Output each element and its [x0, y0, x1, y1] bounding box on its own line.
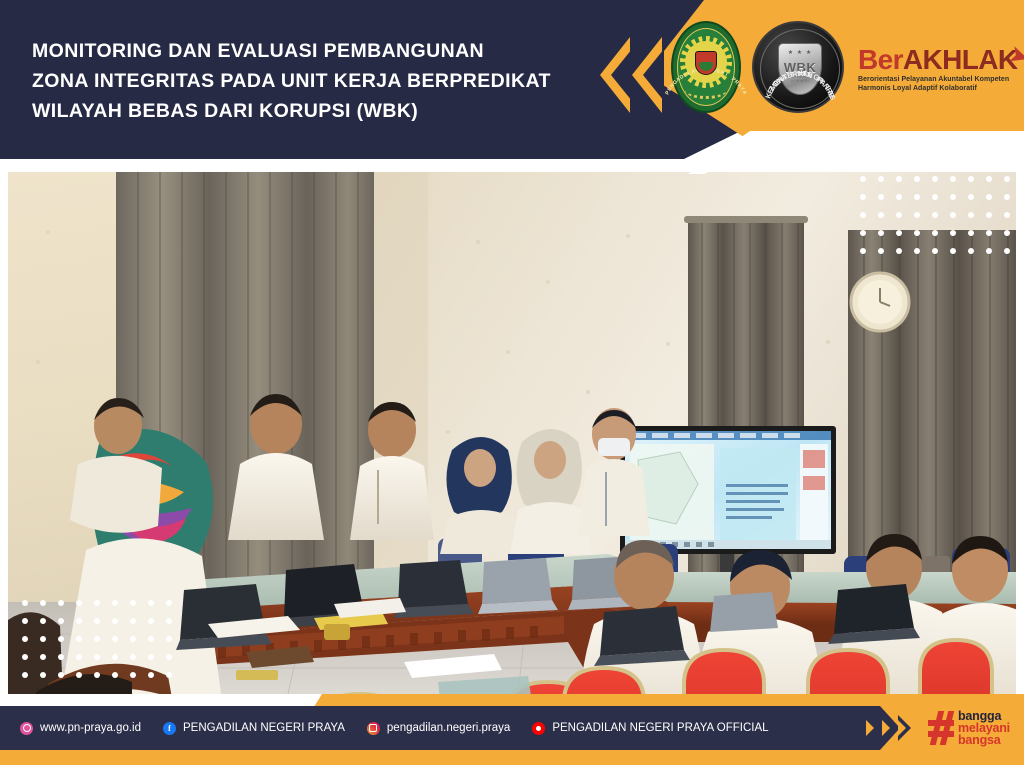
dot [166, 618, 172, 624]
dot [148, 672, 154, 678]
dot [112, 618, 118, 624]
dot [148, 654, 154, 660]
youtube-icon[interactable] [532, 722, 545, 735]
dot [40, 672, 46, 678]
dot [40, 618, 46, 624]
footer-link-label: www.pn-praya.go.id [40, 722, 141, 734]
medal-arc-bottom-text: ZONA INTEGRITAS [754, 23, 846, 115]
dot [896, 176, 902, 182]
dot [932, 248, 938, 254]
dot [166, 600, 172, 606]
dot [986, 212, 992, 218]
bangga-melayani-bangsa-logo: bangga melayani bangsa [928, 710, 1010, 746]
bangga-line-3: bangsa [958, 734, 1010, 746]
chevron-right-icon-2 [882, 715, 895, 741]
dot [148, 618, 154, 624]
dot [40, 654, 46, 660]
dot [76, 600, 82, 606]
footer-social-links: www.pn-praya.go.idfPENGADILAN NEGERI PRA… [0, 706, 880, 750]
dot [22, 636, 28, 642]
dot [22, 618, 28, 624]
dot [58, 672, 64, 678]
poster-header: MONITORING DAN EVALUASI PEMBANGUNAN ZONA… [0, 0, 1024, 170]
dot [112, 672, 118, 678]
dot [1004, 176, 1010, 182]
dot [914, 248, 920, 254]
arc-char: A [740, 90, 747, 96]
dot [968, 248, 974, 254]
dot [130, 654, 136, 660]
arc-char: I [789, 70, 794, 79]
title-line-2: ZONA INTEGRITAS PADA UNIT KERJA BERPREDI… [32, 66, 592, 96]
dot [58, 654, 64, 660]
dot [878, 176, 884, 182]
dot [112, 636, 118, 642]
dot [1004, 212, 1010, 218]
dot [1004, 194, 1010, 200]
hashtag-icon [928, 711, 954, 745]
chevron-right-icon-3 [898, 715, 911, 741]
dot [130, 636, 136, 642]
footer-link-3[interactable]: PENGADILAN NEGERI PRAYA OFFICIAL [532, 722, 768, 735]
footer-link-1[interactable]: fPENGADILAN NEGERI PRAYA [163, 722, 345, 735]
dot [130, 618, 136, 624]
berakhlak-word-ber: Ber [858, 44, 903, 75]
dot [932, 230, 938, 236]
chevron-left-icon-1 [600, 37, 630, 113]
berakhlak-word-akhlak: AKHLAK [903, 44, 1018, 75]
dot [878, 248, 884, 254]
dot [968, 230, 974, 236]
dot [878, 212, 884, 218]
page-title: MONITORING DAN EVALUASI PEMBANGUNAN ZONA… [32, 36, 592, 126]
footer-link-2[interactable]: pengadilan.negeri.praya [367, 722, 510, 735]
dot [22, 672, 28, 678]
chevron-left-icon-2 [632, 37, 662, 113]
dot [166, 654, 172, 660]
dot-row [854, 172, 1016, 188]
dot [94, 600, 100, 606]
dot [76, 636, 82, 642]
dot [896, 248, 902, 254]
dot [896, 194, 902, 200]
facebook-icon[interactable]: f [163, 722, 176, 735]
dot-row [16, 594, 178, 612]
dot [40, 636, 46, 642]
dot [950, 248, 956, 254]
dot [914, 230, 920, 236]
dot [986, 248, 992, 254]
seal-crest [695, 51, 717, 75]
dot [950, 194, 956, 200]
footer-link-label: PENGADILAN NEGERI PRAYA OFFICIAL [552, 722, 768, 734]
dot [860, 176, 866, 182]
dot [950, 176, 956, 182]
bangga-text: bangga melayani bangsa [958, 710, 1010, 746]
dot [94, 618, 100, 624]
dot [166, 672, 172, 678]
footer-link-label: pengadilan.negeri.praya [387, 722, 510, 734]
globe-icon[interactable] [20, 722, 33, 735]
wbk-zona-integritas-medal: ★ ★ ★ WBK WILAYAH BEBAS DARI KORUPSI KEM… [752, 21, 844, 113]
dot-row [16, 612, 178, 630]
dot-row [854, 188, 1016, 206]
instagram-icon[interactable] [367, 722, 380, 735]
dot [950, 212, 956, 218]
dot [860, 212, 866, 218]
dot [94, 636, 100, 642]
dot [986, 230, 992, 236]
dot [932, 212, 938, 218]
dot-grid-top-right [854, 172, 1016, 260]
dot [148, 600, 154, 606]
dot-grid-bottom-left [16, 594, 178, 684]
berakhlak-tagline-1: Berorientasi Pelayanan Akuntabel Kompete… [858, 75, 1018, 85]
dot [860, 194, 866, 200]
dot [94, 672, 100, 678]
dot [112, 654, 118, 660]
dot [878, 230, 884, 236]
dot [76, 672, 82, 678]
dot [76, 618, 82, 624]
pn-praya-seal: PENGADILAN NEGERI PRAYA [668, 17, 744, 117]
dot [94, 654, 100, 660]
dot [914, 176, 920, 182]
dot-row [854, 206, 1016, 224]
dot [950, 230, 956, 236]
dot [1004, 230, 1010, 236]
footer-chevrons [866, 715, 911, 741]
berakhlak-wordmark: BerAKHLAK ➤ Berorientasi Pelayanan Akunt… [858, 41, 1018, 94]
dot [58, 600, 64, 606]
header-logo-row: PENGADILAN NEGERI PRAYA ★ ★ ★ WBK WILAYA… [668, 12, 1018, 122]
berakhlak-tagline-2: Harmonis Loyal Adaptif Kolaboratif [858, 84, 1018, 94]
title-line-1: MONITORING DAN EVALUASI PEMBANGUNAN [32, 36, 592, 66]
dot [22, 654, 28, 660]
dot [860, 248, 866, 254]
dot [878, 194, 884, 200]
dot [76, 654, 82, 660]
event-photo [8, 172, 1016, 694]
dot [22, 600, 28, 606]
dot [58, 636, 64, 642]
dot-row [16, 630, 178, 648]
poster-root: MONITORING DAN EVALUASI PEMBANGUNAN ZONA… [0, 0, 1024, 765]
dot-row [16, 648, 178, 666]
footer-link-0[interactable]: www.pn-praya.go.id [20, 722, 141, 735]
dot-row [854, 242, 1016, 260]
dot-row [854, 224, 1016, 242]
dot [932, 176, 938, 182]
dot [986, 176, 992, 182]
dot [860, 230, 866, 236]
title-line-3: WILAYAH BEBAS DARI KORUPSI (WBK) [32, 96, 592, 126]
footer-link-label: PENGADILAN NEGERI PRAYA [183, 722, 345, 734]
dot [112, 600, 118, 606]
dot [58, 618, 64, 624]
dot [986, 194, 992, 200]
dot [148, 636, 154, 642]
dot [40, 600, 46, 606]
dot [130, 600, 136, 606]
dot [914, 212, 920, 218]
dot [166, 636, 172, 642]
dot [968, 176, 974, 182]
dot [968, 212, 974, 218]
dot [914, 194, 920, 200]
berakhlak-word: BerAKHLAK ➤ [858, 45, 1018, 75]
poster-footer: www.pn-praya.go.idfPENGADILAN NEGERI PRA… [0, 694, 1024, 765]
dot [968, 194, 974, 200]
chevron-right-icon-1 [866, 715, 879, 741]
dot-row [16, 666, 178, 684]
dot [896, 212, 902, 218]
dot [130, 672, 136, 678]
dot [896, 230, 902, 236]
dot [932, 194, 938, 200]
dot [1004, 248, 1010, 254]
